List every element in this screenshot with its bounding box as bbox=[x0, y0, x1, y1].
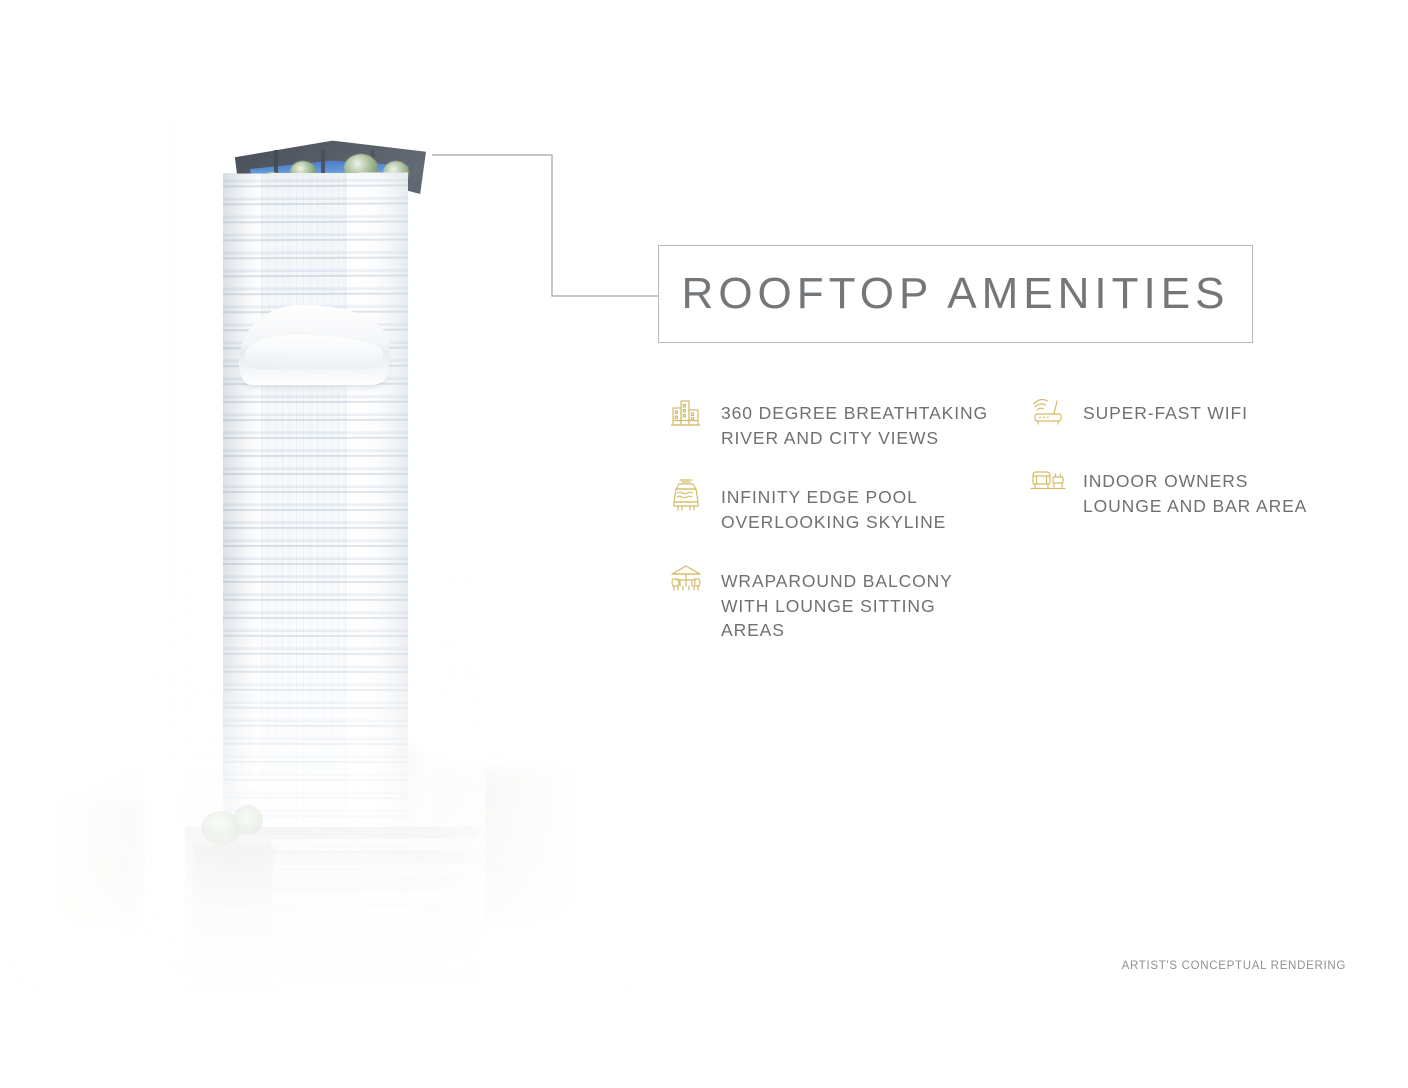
amenity-label: INFINITY EDGE POOL OVERLOOKING SKYLINE bbox=[721, 476, 946, 534]
artist-rendering-disclaimer: ARTIST'S CONCEPTUAL RENDERING bbox=[1122, 960, 1346, 972]
city-skyline-icon bbox=[665, 396, 707, 438]
amenity-label: INDOOR OWNERS LOUNGE AND BAR AREA bbox=[1083, 466, 1307, 518]
page-title: ROOFTOP AMENITIES bbox=[682, 269, 1230, 319]
amenity-label: SUPER-FAST WIFI bbox=[1083, 396, 1248, 426]
slide-root: ROOFTOP AMENITIES bbox=[0, 0, 1408, 1088]
amenity-item: 360 DEGREE BREATHTAKING RIVER AND CITY V… bbox=[665, 396, 995, 450]
amenity-item: WRAPAROUND BALCONY WITH LOUNGE SITTING A… bbox=[665, 562, 995, 643]
podium-base bbox=[185, 805, 485, 1000]
retail-storefront bbox=[281, 937, 479, 999]
title-box: ROOFTOP AMENITIES bbox=[658, 245, 1253, 343]
amenities-column-right: SUPER-FAST WIFI INDO bbox=[1027, 396, 1357, 544]
sculpted-balcony-feature bbox=[239, 305, 389, 385]
patio-umbrella-icon bbox=[665, 562, 707, 604]
amenity-item: INFINITY EDGE POOL OVERLOOKING SKYLINE bbox=[665, 476, 995, 534]
amenity-item: INDOOR OWNERS LOUNGE AND BAR AREA bbox=[1027, 466, 1357, 518]
amenity-label: WRAPAROUND BALCONY WITH LOUNGE SITTING A… bbox=[721, 562, 995, 643]
infinity-pool-icon bbox=[665, 476, 707, 518]
sofa-icon bbox=[1027, 466, 1069, 508]
wifi-router-icon bbox=[1027, 396, 1069, 438]
amenity-item: SUPER-FAST WIFI bbox=[1027, 396, 1357, 438]
amenities-column-left: 360 DEGREE BREATHTAKING RIVER AND CITY V… bbox=[665, 396, 995, 669]
building-rendering bbox=[0, 40, 660, 1000]
condo-tower bbox=[185, 115, 435, 975]
amenity-label: 360 DEGREE BREATHTAKING RIVER AND CITY V… bbox=[721, 396, 988, 450]
